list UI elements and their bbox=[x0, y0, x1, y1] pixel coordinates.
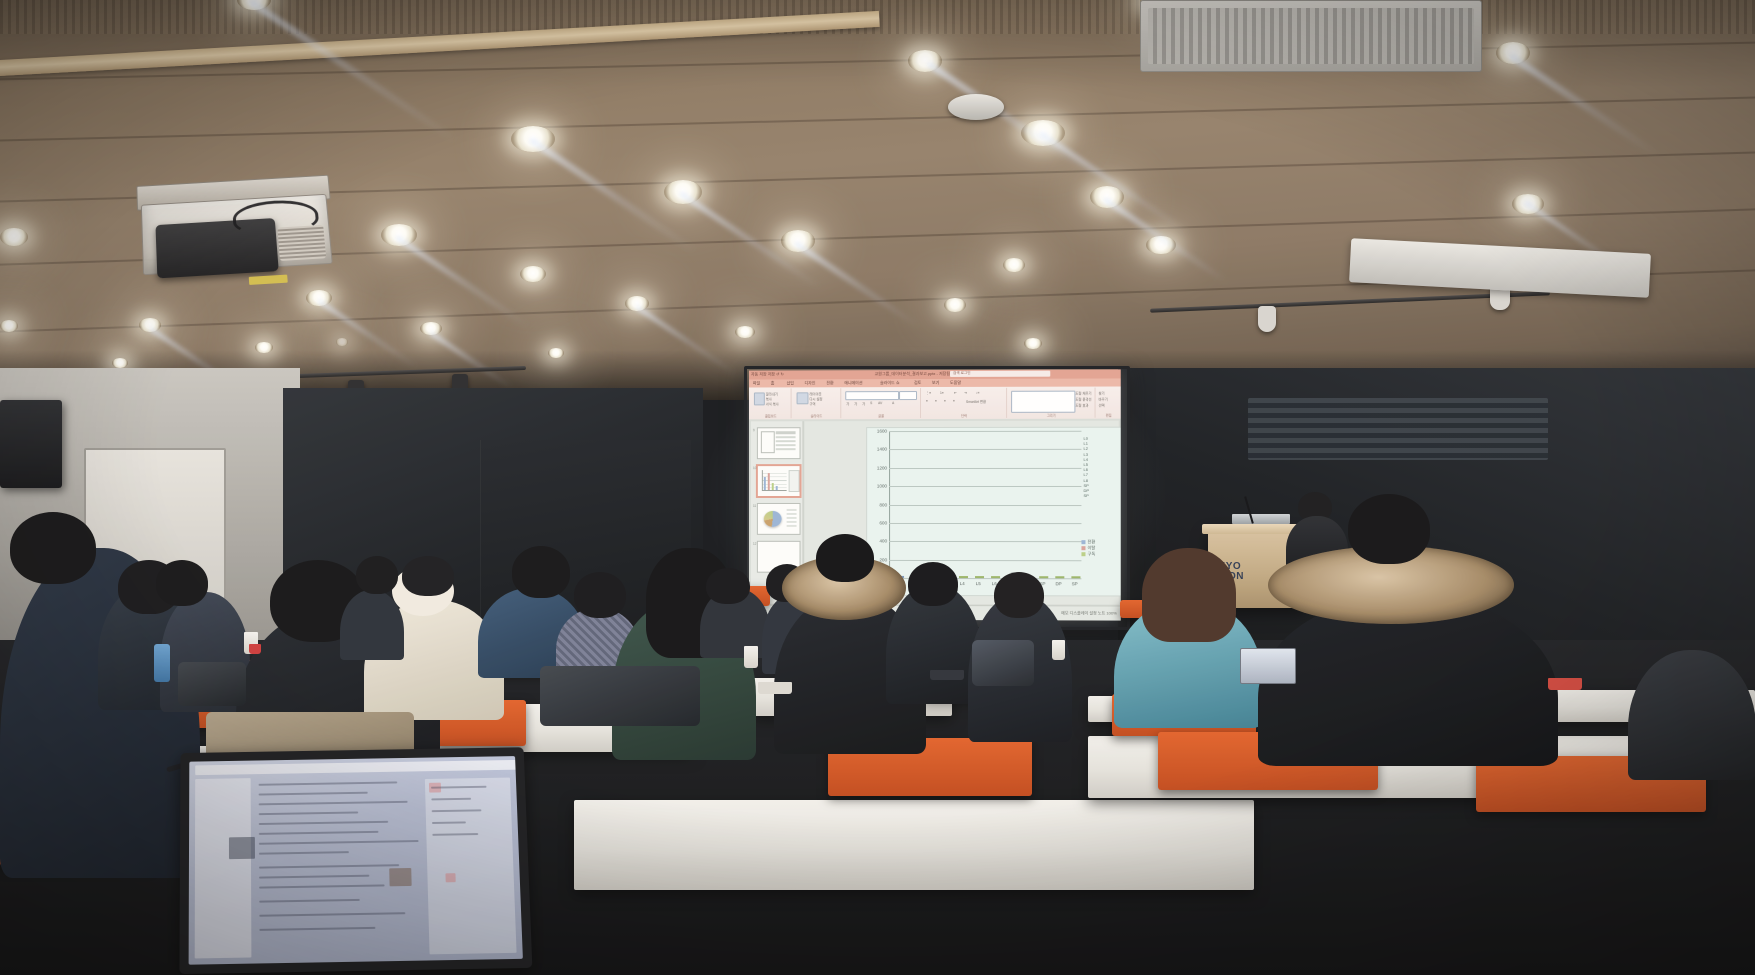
ceiling-downlight bbox=[548, 348, 564, 358]
smartart-label[interactable]: SmartArt 변환 bbox=[966, 399, 986, 404]
legend-swatch-conversion bbox=[1081, 540, 1085, 544]
bar-segment bbox=[1055, 576, 1064, 578]
y-tick: 800 bbox=[869, 502, 887, 507]
group-label-slides: 슬라이드 bbox=[793, 413, 841, 418]
attendee-head bbox=[706, 568, 750, 604]
ceiling-downlight bbox=[781, 230, 815, 252]
group-label-drawing: 그리기 bbox=[1008, 413, 1094, 418]
desk bbox=[574, 800, 1254, 890]
paste-icon[interactable] bbox=[754, 392, 765, 405]
pie-chart-icon bbox=[764, 511, 782, 527]
bar-segment bbox=[1039, 576, 1048, 578]
ceiling-downlight bbox=[1021, 120, 1065, 146]
ribbon-group-drawing[interactable]: 도형 채우기 도형 윤곽선 도형 효과 그리기 bbox=[1008, 388, 1095, 418]
thumbnail-number: 12 bbox=[753, 542, 757, 546]
ceiling-downlight bbox=[664, 180, 702, 204]
ceiling-downlight bbox=[306, 290, 332, 306]
bar-segment bbox=[959, 576, 968, 578]
x-tick-label: L5 bbox=[971, 581, 985, 586]
laptop-sidebar bbox=[195, 778, 252, 958]
group-label-clipboard: 클립보드 bbox=[751, 413, 791, 418]
search-placeholder: 검색 로그인 bbox=[953, 371, 971, 376]
y-tick: 400 bbox=[869, 539, 887, 544]
ceiling-downlight bbox=[381, 224, 417, 246]
y-tick: 1400 bbox=[869, 447, 887, 452]
ribbon-group-clipboard[interactable]: 잘라내기 복사 서식 복사 클립보드 bbox=[751, 388, 792, 418]
current-slide[interactable]: 1600 1400 1200 1000 800 600 400 200 0 L0… bbox=[866, 427, 1121, 597]
attendee-head bbox=[994, 572, 1044, 618]
tab-slideshow[interactable]: 슬라이드 쇼 bbox=[880, 380, 899, 386]
ribbon-group-paragraph[interactable]: ⋮≡ 1≡ ⇤ ⇥ ↕≡ ≡ ≡ ≡ ≡ SmartArt 변환 단락 bbox=[922, 388, 1007, 418]
tab-home[interactable]: 홈 bbox=[771, 380, 775, 386]
ceiling-downlight bbox=[944, 298, 966, 312]
numbering-icon: 1≡ bbox=[940, 391, 944, 395]
ribbon-group-font[interactable]: 가 가 가 S AV A 글꼴 bbox=[842, 388, 921, 418]
document-title: 교원그룹_데이터분석_결과보고.pptx - 저장됨 bbox=[875, 370, 950, 376]
paper-cup[interactable] bbox=[249, 644, 261, 654]
search-box[interactable]: 검색 로그인 bbox=[950, 371, 1050, 377]
x-tick-label: SP bbox=[1068, 581, 1082, 586]
notebook[interactable] bbox=[930, 670, 964, 680]
tab-view[interactable]: 보기 bbox=[932, 380, 939, 386]
y-tick: 1200 bbox=[869, 465, 887, 470]
ceiling-downlight bbox=[255, 342, 273, 353]
bar-segment bbox=[1071, 576, 1080, 578]
ceiling-downlight bbox=[112, 358, 128, 368]
format-painter-label[interactable]: 서식 복사 bbox=[766, 401, 779, 406]
ceiling-downlight bbox=[1003, 258, 1025, 272]
indent-dec-icon: ⇤ bbox=[954, 391, 957, 395]
laptop-screen[interactable] bbox=[189, 756, 523, 965]
attendee-head bbox=[1142, 548, 1236, 642]
thumbnail-number: 11 bbox=[753, 504, 756, 508]
water-bottle[interactable] bbox=[154, 644, 170, 682]
tab-transitions[interactable]: 전환 bbox=[826, 380, 833, 386]
chart-axis-legend-list: L0L1L2L3L4L5L6L7L8SPDPSP bbox=[1083, 436, 1117, 499]
tab-file[interactable]: 파일 bbox=[753, 380, 760, 386]
ceiling-downlight bbox=[520, 266, 546, 282]
font-name-box[interactable] bbox=[845, 391, 899, 400]
wall-speaker bbox=[0, 400, 62, 488]
group-label-font: 글꼴 bbox=[842, 413, 920, 418]
ribbon-group-editing[interactable]: 찾기 바꾸기 선택 편집 bbox=[1097, 388, 1121, 418]
ceiling-speaker bbox=[948, 94, 1004, 120]
group-label-paragraph: 단락 bbox=[922, 413, 1006, 418]
section-label[interactable]: 구역 bbox=[809, 401, 815, 406]
thumbnail-number: 9 bbox=[753, 428, 755, 432]
ceiling-downlight bbox=[420, 322, 442, 335]
laptop-thumbnail bbox=[229, 837, 255, 859]
wall-louver-panel bbox=[1248, 398, 1548, 460]
x-tick-label: DP bbox=[1052, 581, 1066, 586]
notebook[interactable] bbox=[758, 682, 792, 694]
bar-segment bbox=[975, 576, 984, 578]
align-left-icon: ≡ bbox=[926, 399, 928, 403]
group-label-editing: 편집 bbox=[1097, 413, 1121, 418]
attendee-head bbox=[356, 556, 398, 594]
slide-thumbnail[interactable]: 11 bbox=[757, 503, 801, 535]
status-right-controls[interactable]: 메모 디스플레이 설정 노트 100% bbox=[1061, 610, 1117, 616]
ceiling-downlight bbox=[1496, 42, 1530, 64]
tab-insert[interactable]: 삽입 bbox=[787, 380, 794, 386]
tab-design[interactable]: 디자인 bbox=[804, 380, 815, 386]
ceiling-downlight bbox=[336, 338, 348, 346]
ceiling-downlight bbox=[735, 326, 755, 338]
ceiling-projector bbox=[136, 175, 337, 300]
slide-thumbnail[interactable]: 10 bbox=[757, 465, 801, 497]
select-label[interactable]: 선택 bbox=[1099, 403, 1105, 408]
tab-animations[interactable]: 애니메이션 bbox=[844, 380, 862, 386]
attendee-head bbox=[574, 572, 626, 618]
attendee bbox=[1628, 650, 1755, 780]
ceiling-downlight bbox=[1090, 186, 1124, 208]
backpack bbox=[540, 666, 700, 726]
tab-review[interactable]: 검토 bbox=[914, 380, 921, 386]
ceiling-downlight bbox=[1512, 194, 1544, 214]
shape-effects-label[interactable]: 도형 효과 bbox=[1075, 403, 1088, 408]
char-spacing-icon: AV bbox=[878, 401, 882, 405]
replace-label[interactable]: 바꾸기 bbox=[1099, 397, 1108, 402]
lecture-hall-photo: 자동 저장 저장 ↺ ↻ 교원그룹_데이터분석_결과보고.pptx - 저장됨 … bbox=[0, 0, 1755, 975]
attendee-head bbox=[512, 546, 570, 598]
align-center-icon: ≡ bbox=[935, 399, 937, 403]
line-spacing-icon: ↕≡ bbox=[976, 391, 980, 395]
legend-item: 구독 bbox=[1081, 551, 1117, 557]
align-right-icon: ≡ bbox=[944, 399, 946, 403]
paper-cup[interactable] bbox=[1052, 640, 1065, 660]
attendee bbox=[340, 590, 404, 660]
ribbon[interactable]: 잘라내기 복사 서식 복사 클립보드 레이아웃 다시 설정 구역 슬라이드 가 … bbox=[749, 386, 1121, 420]
ceiling-downlight bbox=[1146, 236, 1176, 254]
ceiling-downlight bbox=[908, 50, 942, 72]
find-label[interactable]: 찾기 bbox=[1099, 391, 1105, 396]
ceiling-ac-vent bbox=[1140, 0, 1482, 72]
attendee-head bbox=[1348, 494, 1430, 564]
shape-outline-label[interactable]: 도형 윤곽선 bbox=[1075, 397, 1091, 402]
tab-help[interactable]: 도움말 bbox=[950, 380, 961, 386]
stacked-bar-chart: 1600 1400 1200 1000 800 600 400 200 0 L0… bbox=[889, 432, 1081, 580]
y-tick: 1000 bbox=[869, 484, 887, 489]
y-tick: 1600 bbox=[869, 428, 887, 433]
attendee-head bbox=[10, 512, 96, 584]
underline-icon: 가 bbox=[862, 401, 865, 406]
ac-vent-grill bbox=[1148, 8, 1474, 64]
attendee-laptop-far[interactable] bbox=[1240, 648, 1296, 684]
laptop-thumbnail bbox=[389, 868, 411, 886]
indent-inc-icon: ⇥ bbox=[964, 391, 967, 395]
italic-icon: 가 bbox=[854, 401, 857, 406]
font-color-icon: A bbox=[892, 401, 894, 405]
bullets-icon: ⋮≡ bbox=[926, 391, 931, 395]
justify-icon: ≡ bbox=[953, 399, 955, 403]
ceiling-downlight bbox=[1024, 338, 1042, 349]
chart-series-legend: 전환 이탈 구독 bbox=[1081, 539, 1117, 557]
backpack bbox=[972, 640, 1034, 686]
attendee-head bbox=[402, 556, 454, 596]
presenter-laptop[interactable] bbox=[1232, 514, 1290, 524]
projector-label bbox=[249, 275, 288, 285]
notebook[interactable] bbox=[1548, 678, 1582, 690]
legend-swatch-subscribe bbox=[1081, 552, 1085, 556]
ceiling-downlight bbox=[0, 228, 28, 246]
quick-access-toolbar[interactable]: 자동 저장 저장 ↺ ↻ bbox=[751, 371, 784, 377]
attendee-head bbox=[908, 562, 958, 606]
font-size-box[interactable] bbox=[899, 391, 917, 400]
ceiling-downlight bbox=[625, 296, 649, 311]
shapes-gallery-icon[interactable] bbox=[1011, 391, 1075, 413]
ceiling-downlight bbox=[139, 318, 161, 332]
ceiling-downlight bbox=[511, 126, 555, 152]
attendee-head bbox=[156, 560, 208, 606]
backpack bbox=[178, 662, 246, 706]
ribbon-group-slides[interactable]: 레이아웃 다시 설정 구역 슬라이드 bbox=[793, 388, 842, 418]
legend-label: 구독 bbox=[1087, 551, 1095, 557]
legend-swatch-churn bbox=[1081, 546, 1085, 550]
thumbnail-number: 10 bbox=[753, 466, 757, 470]
attendee-head bbox=[816, 534, 874, 582]
attendee-laptop[interactable] bbox=[179, 747, 532, 974]
new-slide-icon[interactable] bbox=[797, 392, 809, 404]
shape-fill-label[interactable]: 도형 채우기 bbox=[1075, 391, 1091, 396]
y-tick: 600 bbox=[869, 520, 887, 525]
legend-axis-entry: SP bbox=[1083, 493, 1117, 498]
spotlight-fixture bbox=[1258, 306, 1276, 332]
ceiling-downlight bbox=[0, 320, 18, 332]
laptop-panel bbox=[425, 778, 517, 955]
strike-icon: S bbox=[870, 401, 872, 405]
bar-segment bbox=[991, 576, 1000, 578]
bold-icon: 가 bbox=[846, 401, 849, 406]
paper-cup[interactable] bbox=[744, 646, 758, 668]
slide-thumbnail[interactable]: 9 bbox=[757, 427, 801, 459]
